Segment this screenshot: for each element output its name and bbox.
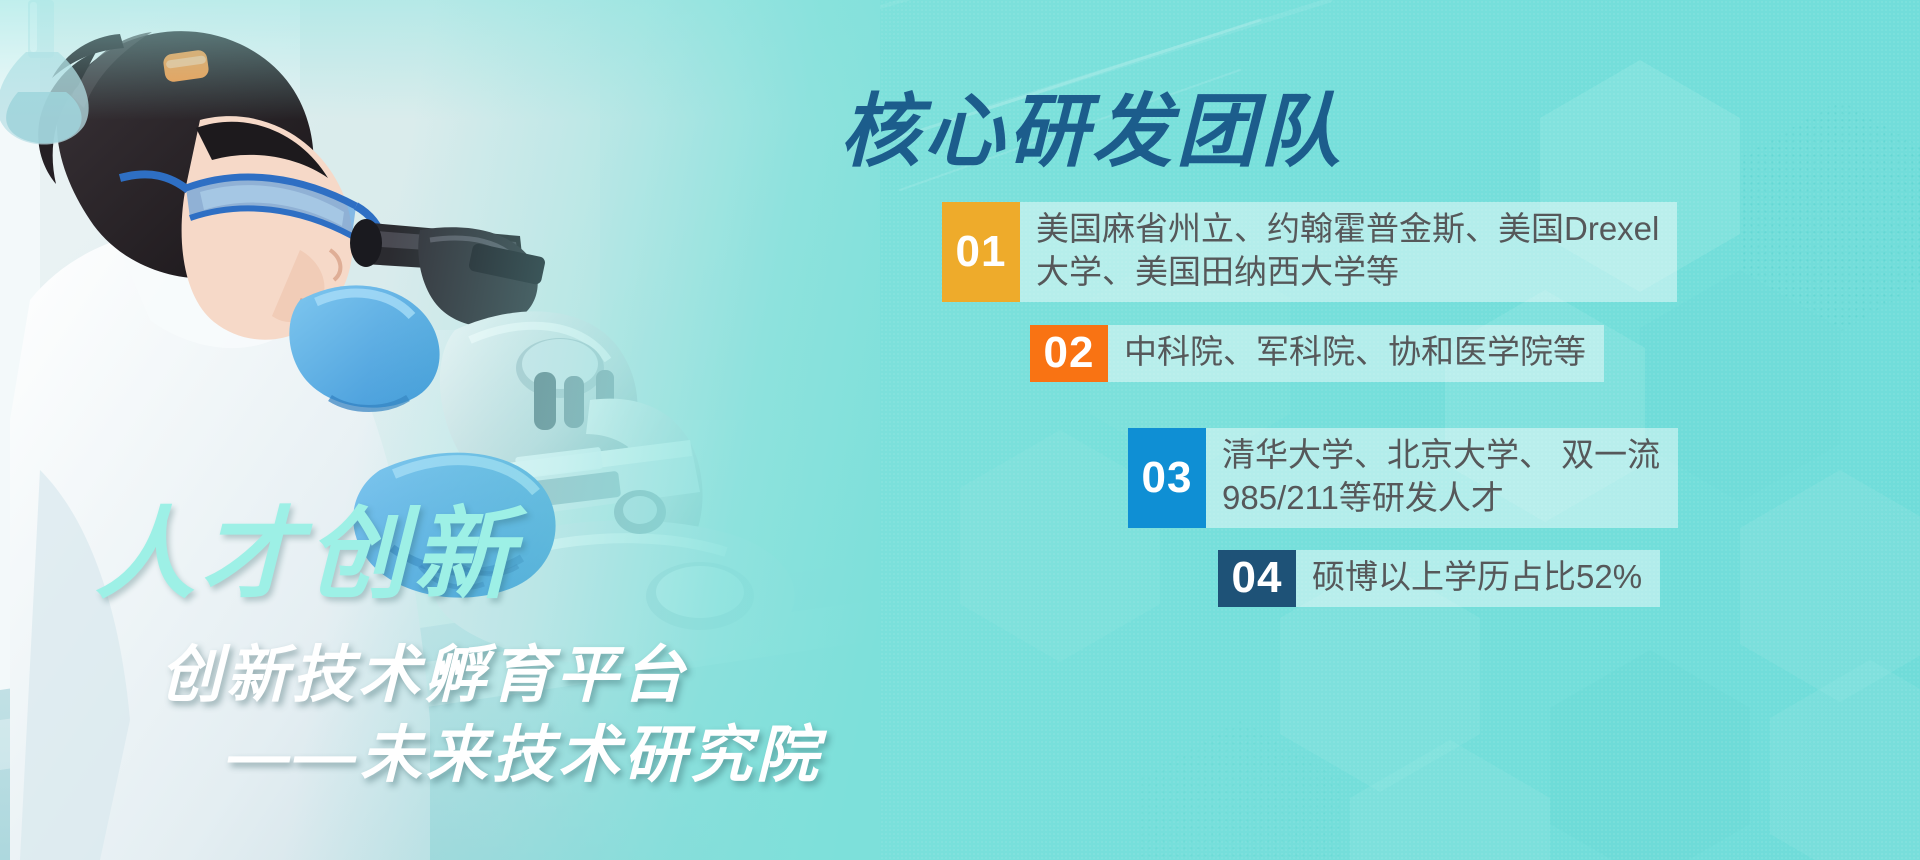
page-title: 核心研发团队 bbox=[840, 92, 1344, 172]
headline-white-2: ——未来技术研究院 bbox=[228, 725, 822, 787]
list-item[interactable]: 03 清华大学、北京大学、 双一流 985/211等研发人才 bbox=[1128, 428, 1678, 528]
item-text: 美国麻省州立、约翰霍普金斯、美国Drexel 大学、美国田纳西大学等 bbox=[1020, 202, 1677, 302]
list-item[interactable]: 04 硕博以上学历占比52% bbox=[1218, 550, 1660, 607]
item-number-badge: 03 bbox=[1128, 428, 1206, 528]
banner-stage: 人才创新 创新技术孵育平台 ——未来技术研究院 核心研发团队 01 美国麻省州立… bbox=[0, 0, 1920, 860]
list-item[interactable]: 02 中科院、军科院、协和医学院等 bbox=[1030, 325, 1604, 382]
headline-white-1: 创新技术孵育平台 bbox=[160, 645, 688, 707]
item-number-badge: 04 bbox=[1218, 550, 1296, 607]
headline-mint: 人才创新 bbox=[95, 505, 519, 605]
item-number-badge: 01 bbox=[942, 202, 1020, 302]
list-item[interactable]: 01 美国麻省州立、约翰霍普金斯、美国Drexel 大学、美国田纳西大学等 bbox=[942, 202, 1677, 302]
right-content-panel: 核心研发团队 01 美国麻省州立、约翰霍普金斯、美国Drexel 大学、美国田纳… bbox=[830, 0, 1920, 860]
left-headline-block: 人才创新 创新技术孵育平台 ——未来技术研究院 bbox=[0, 0, 880, 860]
item-text: 清华大学、北京大学、 双一流 985/211等研发人才 bbox=[1206, 428, 1678, 528]
item-text: 硕博以上学历占比52% bbox=[1296, 550, 1660, 607]
item-text: 中科院、军科院、协和医学院等 bbox=[1108, 325, 1604, 382]
item-number-badge: 02 bbox=[1030, 325, 1108, 382]
